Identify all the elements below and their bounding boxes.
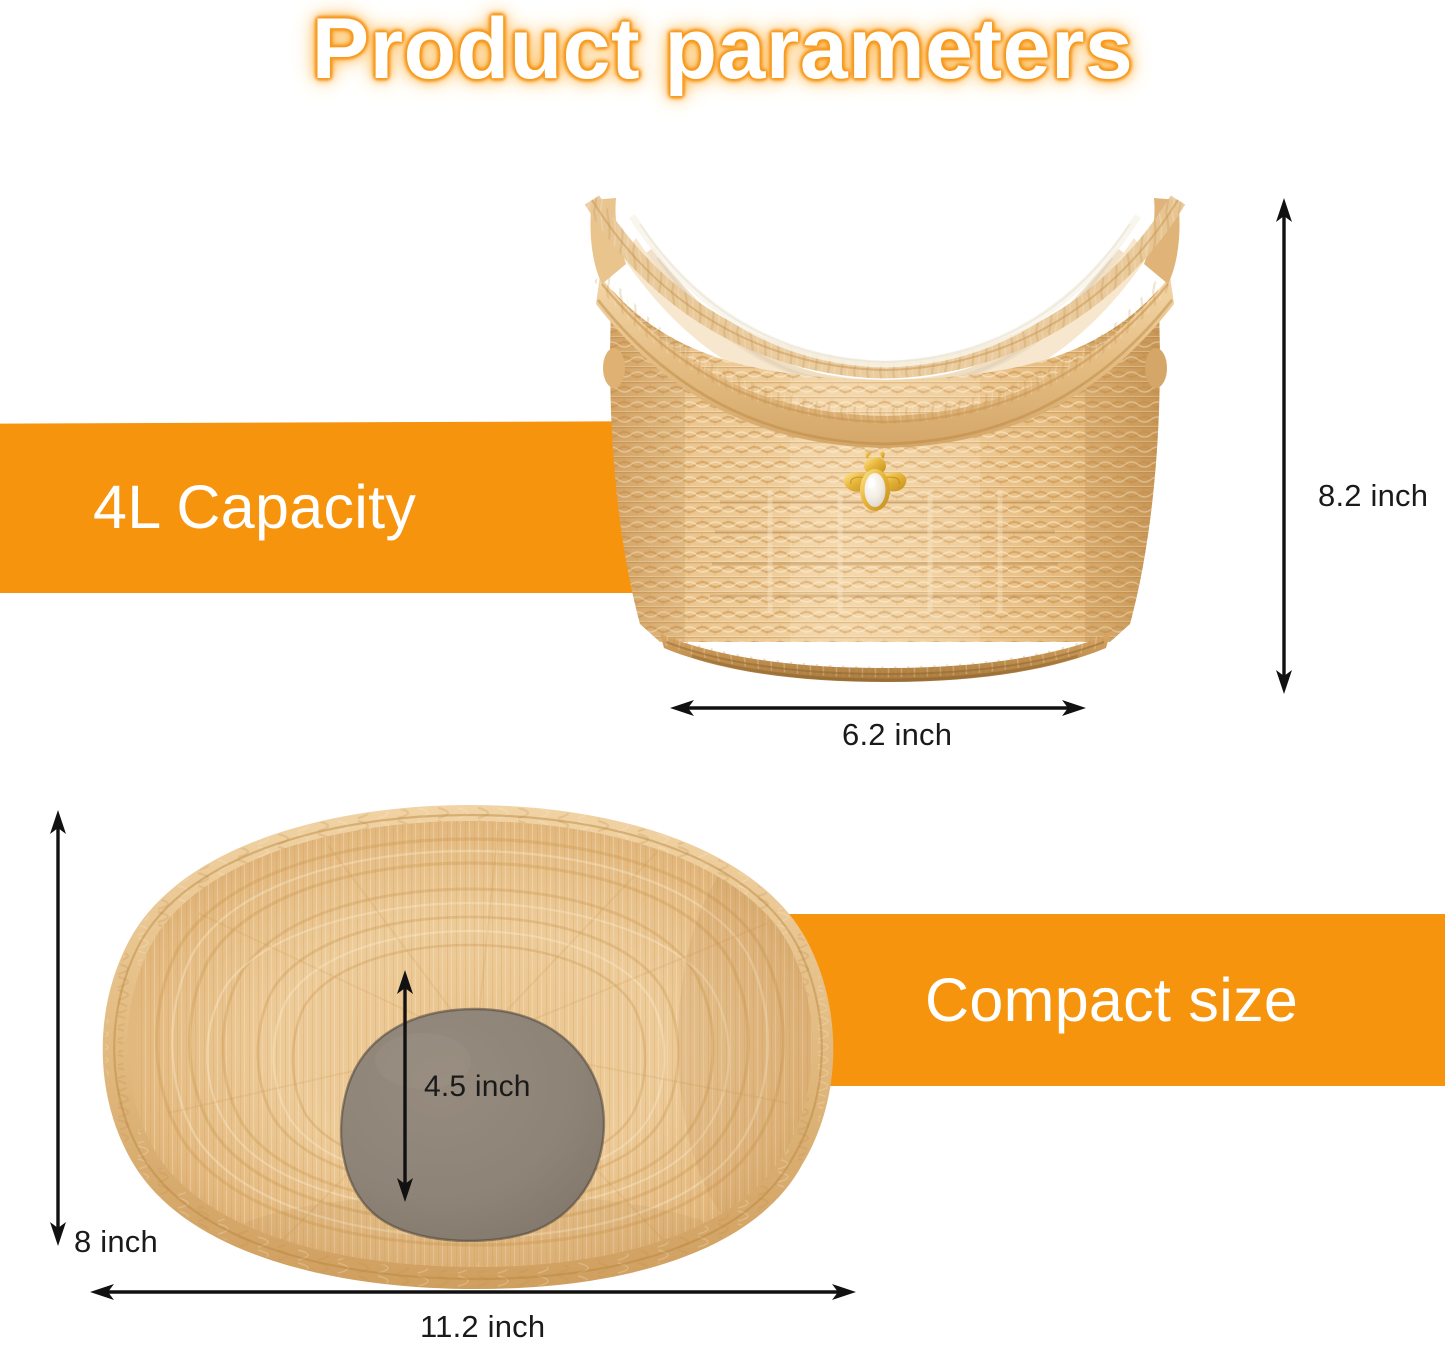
dimension-label-height-front: 8.2 inch bbox=[1318, 478, 1428, 514]
banner-capacity-label: 4L Capacity bbox=[93, 477, 416, 538]
infographic-canvas: Product parameters 4L Capacity Compact s… bbox=[0, 0, 1445, 1355]
basket-base-panel bbox=[341, 1009, 604, 1241]
dimension-arrow-height-top bbox=[34, 808, 88, 1248]
dimension-arrow-height-front bbox=[1258, 196, 1318, 696]
dimension-arrow-width-top bbox=[88, 1274, 858, 1310]
dimension-label-height-top: 8 inch bbox=[74, 1224, 158, 1260]
page-title: Product parameters bbox=[0, 4, 1445, 94]
dimension-label-base-top: 4.5 inch bbox=[424, 1070, 531, 1104]
product-image-basket-front-view bbox=[540, 172, 1230, 692]
dimension-label-width-top: 11.2 inch bbox=[420, 1309, 545, 1345]
dimension-label-width-front: 6.2 inch bbox=[842, 717, 952, 753]
product-image-basket-top-view bbox=[78, 793, 868, 1293]
banner-compact-label: Compact size bbox=[925, 970, 1298, 1031]
